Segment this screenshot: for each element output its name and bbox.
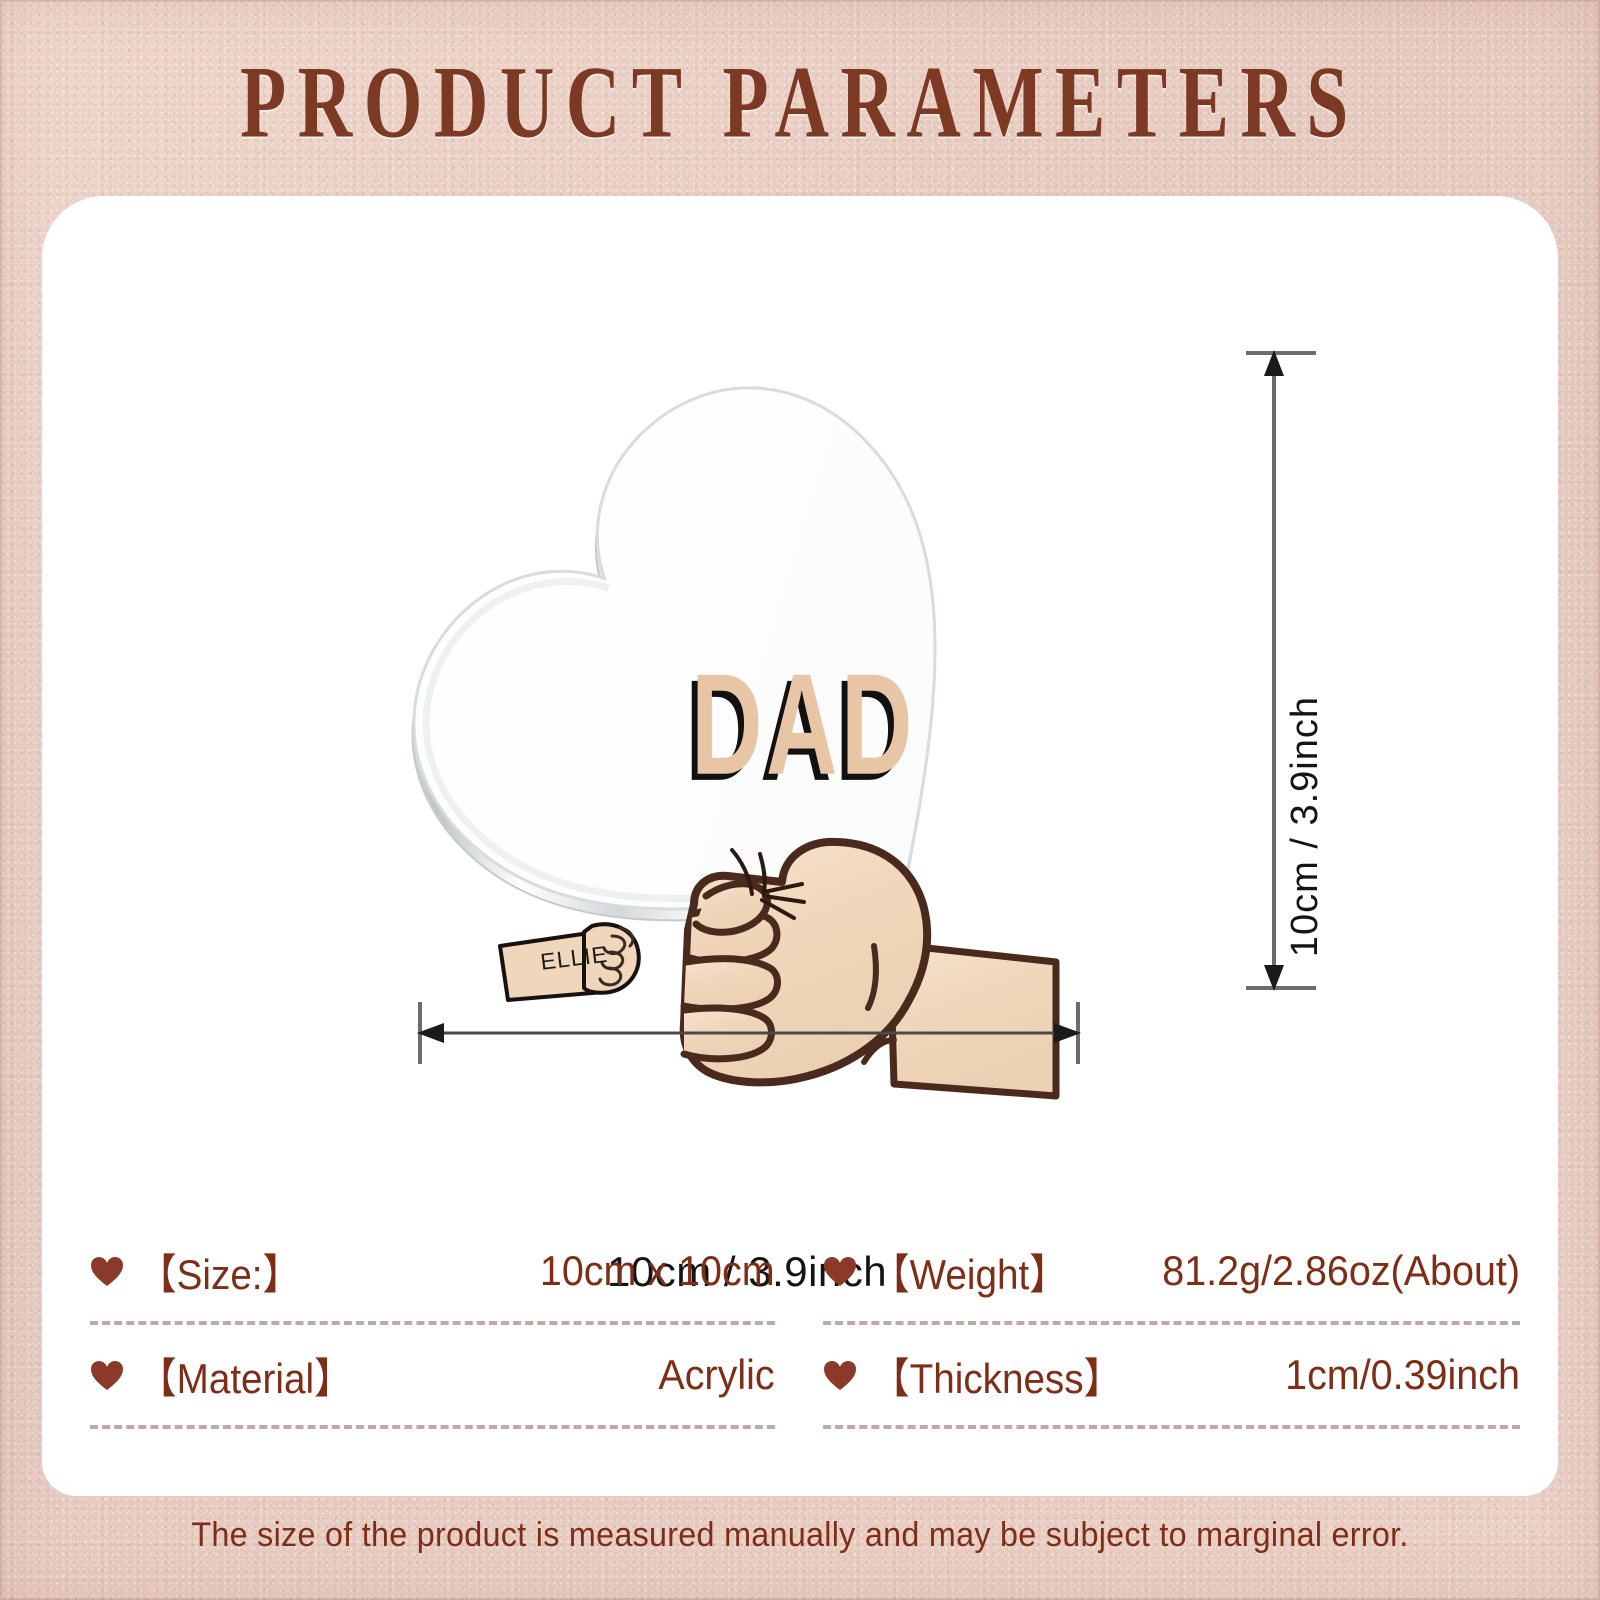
specs-table: 【Size:】 10cm x 10cm 【Material】 Acrylic xyxy=(90,1221,1520,1471)
footer-disclaimer: The size of the product is measured manu… xyxy=(40,1516,1560,1555)
horizontal-dimension-line xyxy=(372,986,1102,1096)
heart-icon xyxy=(823,1256,857,1287)
vertical-dimension-label: 10cm / 3.9inch xyxy=(1284,696,1327,957)
spec-row-material: 【Material】 Acrylic xyxy=(90,1325,775,1425)
spec-value-weight: 81.2g/2.86oz(About) xyxy=(1111,1247,1520,1295)
spec-divider-left-2 xyxy=(90,1425,775,1429)
spec-row-weight: 【Weight】 81.2g/2.86oz(About) xyxy=(823,1221,1520,1321)
spec-divider-left-1 xyxy=(90,1321,775,1325)
engraved-title-dad: DAD xyxy=(691,653,916,797)
heart-icon xyxy=(90,1360,124,1391)
spec-key-material: 【Material】 xyxy=(138,1345,353,1406)
spec-row-thickness: 【Thickness】 1cm/0.39inch xyxy=(823,1325,1520,1425)
content-card: DAD xyxy=(42,196,1558,1496)
heart-icon xyxy=(90,1256,124,1287)
specs-column-right: 【Weight】 81.2g/2.86oz(About) 【Thickness】… xyxy=(805,1221,1520,1471)
spec-row-size: 【Size:】 10cm x 10cm xyxy=(90,1221,775,1321)
spec-key-group: 【Thickness】 xyxy=(823,1345,1144,1406)
spec-divider-right-2 xyxy=(823,1425,1520,1429)
spec-value-thickness: 1cm/0.39inch xyxy=(1167,1351,1520,1399)
vertical-dimension-line xyxy=(1204,336,1354,1016)
spec-key-weight: 【Weight】 xyxy=(871,1241,1068,1302)
product-image-area: DAD xyxy=(42,196,1558,1126)
spec-value-size: 10cm x 10cm xyxy=(343,1247,775,1295)
spec-key-group: 【Material】 xyxy=(90,1345,371,1406)
specs-column-left: 【Size:】 10cm x 10cm 【Material】 Acrylic xyxy=(90,1221,805,1471)
spec-key-thickness: 【Thickness】 xyxy=(871,1345,1122,1406)
spec-value-material: Acrylic xyxy=(396,1351,775,1399)
spec-key-group: 【Weight】 xyxy=(823,1241,1085,1302)
spec-key-group: 【Size:】 xyxy=(90,1241,315,1302)
spec-key-size: 【Size:】 xyxy=(138,1241,301,1302)
spec-divider-right-1 xyxy=(823,1321,1520,1325)
heart-icon xyxy=(823,1360,857,1391)
page-title: PRODUCT PARAMETERS xyxy=(144,48,1456,156)
